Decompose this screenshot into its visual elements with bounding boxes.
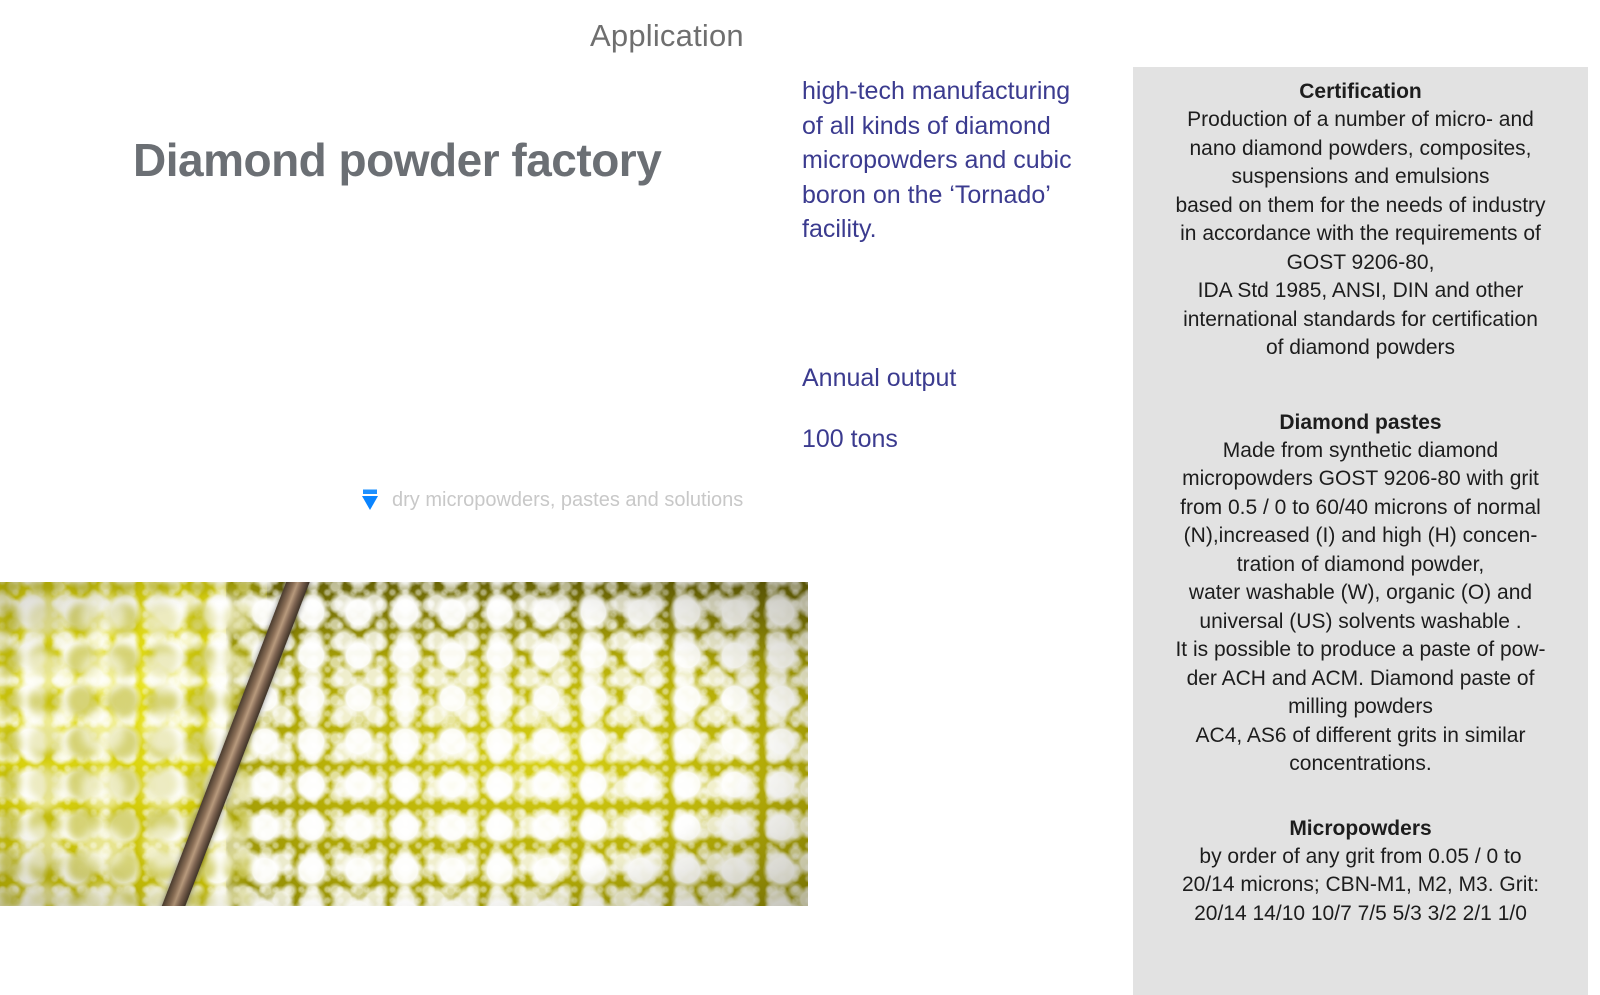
section-line: milling powders	[1139, 693, 1582, 722]
section-gap	[1139, 363, 1582, 409]
section-gap	[1139, 779, 1582, 815]
section-line: suspensions and emulsions	[1139, 163, 1582, 192]
section-line: international standards for certificatio…	[1139, 306, 1582, 335]
section-line: AC4, AS6 of different grits in similar	[1139, 722, 1582, 751]
section-line: based on them for the needs of industry	[1139, 192, 1582, 221]
panel-section-micropowders: Micropowders by order of any grit from 0…	[1139, 815, 1582, 929]
section-line: tration of diamond powder,	[1139, 551, 1582, 580]
product-forms-text: dry micropowders, pastes and solutions	[361, 486, 801, 515]
annual-output-label: Annual output	[802, 364, 956, 393]
section-line: 20/14 microns; CBN-M1, M2, M3. Grit:	[1139, 871, 1582, 900]
info-panel: Certification Production of a number of …	[1133, 67, 1588, 995]
section-line: nano diamond powders, composites,	[1139, 135, 1582, 164]
section-line: water washable (W), organic (O) and	[1139, 579, 1582, 608]
section-line: der ACH and ACM. Diamond paste of	[1139, 665, 1582, 694]
diamond-powder-photo	[0, 582, 808, 906]
application-description: high-tech manufacturing of all kinds of …	[802, 74, 1074, 247]
section-line: GOST 9206-80,	[1139, 249, 1582, 278]
panel-section-certification: Certification Production of a number of …	[1139, 78, 1582, 363]
section-line: 20/14 14/10 10/7 7/5 5/3 3/2 2/1 1/0	[1139, 900, 1582, 929]
funnel-down-arrow-icon	[361, 488, 379, 512]
section-line: in accordance with the requirements of	[1139, 220, 1582, 249]
section-line: micropowders GOST 9206-80 with grit	[1139, 465, 1582, 494]
panel-section-diamond-pastes: Diamond pastes Made from synthetic diamo…	[1139, 409, 1582, 779]
section-line: It is possible to produce a paste of pow…	[1139, 636, 1582, 665]
section-line: universal (US) solvents washable .	[1139, 608, 1582, 637]
section-line: concentrations.	[1139, 750, 1582, 779]
section-line: of diamond powders	[1139, 334, 1582, 363]
section-heading: Certification	[1139, 78, 1582, 106]
section-heading: Diamond pastes	[1139, 409, 1582, 437]
annual-output-value: 100 tons	[802, 425, 898, 454]
section-line: by order of any grit from 0.05 / 0 to	[1139, 843, 1582, 872]
application-description-block: high-tech manufacturing of all kinds of …	[802, 74, 1074, 247]
section-heading: Micropowders	[1139, 815, 1582, 843]
section-line: Production of a number of micro- and	[1139, 106, 1582, 135]
section-line: from 0.5 / 0 to 60/40 microns of normal	[1139, 494, 1582, 523]
section-line: Made from synthetic diamond	[1139, 437, 1582, 466]
section-title: Application	[590, 18, 744, 54]
photo-layer-vignette	[0, 582, 808, 906]
section-line: (N),increased (I) and high (H) concen-	[1139, 522, 1582, 551]
section-line: IDA Std 1985, ANSI, DIN and other	[1139, 277, 1582, 306]
page-title: Diamond powder factory	[133, 133, 661, 187]
product-forms-bullet: dry micropowders, pastes and solutions	[361, 486, 801, 515]
